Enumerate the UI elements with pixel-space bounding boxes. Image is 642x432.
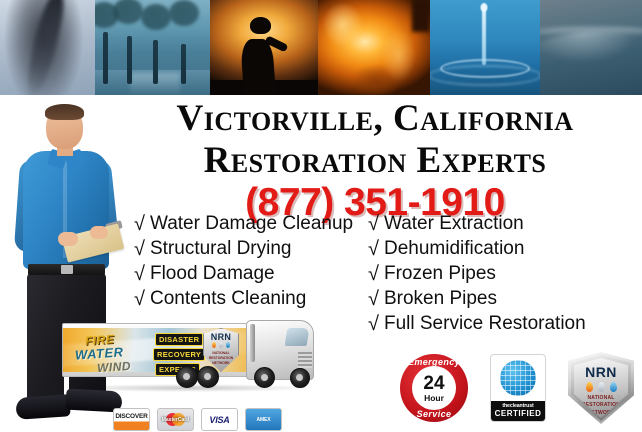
headline-location: Victorville, California bbox=[108, 100, 642, 137]
firefighter-silhouette bbox=[229, 17, 298, 95]
wind-drop-icon bbox=[598, 382, 605, 392]
water-droplet-photo bbox=[430, 0, 540, 95]
service-label: Structural Drying bbox=[150, 239, 292, 260]
trailer-shield-icons bbox=[204, 342, 238, 348]
service-label: Flood Damage bbox=[150, 264, 275, 285]
discover-card-icon: DISCOVER bbox=[113, 408, 150, 431]
rain-road-photo bbox=[95, 0, 210, 95]
firefighter-photo bbox=[210, 0, 318, 95]
ocean-wave-photo bbox=[540, 0, 642, 95]
wave-crest bbox=[540, 27, 642, 37]
wind-drop-icon bbox=[219, 342, 223, 348]
smoke-patch bbox=[412, 0, 430, 32]
trailer-wheel bbox=[197, 366, 219, 388]
fire-drop-icon bbox=[212, 342, 216, 348]
check-icon: √ bbox=[368, 239, 379, 259]
headline-tagline: Restoration Experts bbox=[108, 142, 642, 179]
check-icon: √ bbox=[134, 214, 145, 234]
photo-banner-strip bbox=[0, 0, 642, 95]
service-label: Full Service Restoration bbox=[384, 314, 586, 335]
trailer-badge-recovery: RECOVERY bbox=[153, 348, 205, 361]
tree-trunk bbox=[103, 32, 108, 83]
wheel-hub bbox=[261, 374, 268, 381]
check-icon: √ bbox=[134, 239, 145, 259]
service-item: √ Broken Pipes bbox=[368, 289, 630, 310]
service-item: √ Water Extraction bbox=[368, 214, 630, 235]
headline-block: Victorville, California Restoration Expe… bbox=[108, 100, 642, 222]
amex-label: AMEX bbox=[256, 417, 270, 423]
emergency-hours-unit: Hour bbox=[424, 394, 444, 403]
tree-canopy bbox=[141, 4, 171, 30]
mastercard-label: MasterCard bbox=[162, 417, 190, 423]
water-bead bbox=[480, 3, 487, 12]
service-label: Frozen Pipes bbox=[384, 264, 496, 285]
amex-card-icon: AMEX bbox=[245, 408, 282, 431]
check-icon: √ bbox=[368, 289, 379, 309]
hair bbox=[45, 104, 84, 120]
fire-drop-icon bbox=[586, 382, 593, 392]
belt-buckle bbox=[61, 265, 73, 274]
tree-canopy bbox=[169, 0, 199, 26]
service-label: Broken Pipes bbox=[384, 289, 497, 310]
trailer-wheel bbox=[176, 366, 198, 388]
check-icon: √ bbox=[134, 264, 145, 284]
nrn-sub-national: NATIONAL bbox=[582, 395, 620, 402]
payment-methods: DISCOVER MasterCard VISA AMEX bbox=[113, 408, 282, 431]
service-item: √ Structural Drying bbox=[134, 239, 356, 260]
services-lists: √ Water Damage Cleanup √ Structural Dryi… bbox=[134, 214, 634, 334]
trailer-badge-disaster: DISASTER bbox=[155, 333, 203, 346]
nrn-acronym: NRN bbox=[585, 364, 617, 380]
check-icon: √ bbox=[368, 314, 379, 334]
services-column-right: √ Water Extraction √ Dehumidification √ … bbox=[368, 214, 630, 334]
service-item: √ Dehumidification bbox=[368, 239, 630, 260]
wheel-hub bbox=[183, 373, 190, 380]
tree-trunk bbox=[181, 44, 186, 84]
wheel-hub bbox=[204, 373, 211, 380]
service-item: √ Full Service Restoration bbox=[368, 314, 630, 335]
tree-trunk bbox=[153, 40, 158, 84]
cab-wheel bbox=[254, 367, 275, 388]
left-hand bbox=[58, 232, 78, 246]
visa-card-icon: VISA bbox=[201, 408, 238, 431]
cleantrust-certified-label: CERTIFIED bbox=[491, 409, 545, 418]
cleantrust-text-strip: thecleantrust CERTIFIED bbox=[491, 401, 545, 421]
check-icon: √ bbox=[134, 289, 145, 309]
nrn-subtitle: NATIONAL RESTORATION NETWORK bbox=[582, 395, 620, 417]
silhouette-head bbox=[250, 17, 271, 34]
restoration-ad-banner: Victorville, California Restoration Expe… bbox=[0, 0, 642, 432]
right-hand bbox=[90, 226, 108, 239]
water-drop-icon bbox=[226, 342, 230, 348]
windshield bbox=[285, 328, 310, 346]
tree-canopy bbox=[113, 0, 143, 24]
service-item: √ Frozen Pipes bbox=[368, 264, 630, 285]
service-item: √ Flood Damage bbox=[134, 264, 356, 285]
service-label: Dehumidification bbox=[384, 239, 524, 260]
globe-icon bbox=[491, 355, 545, 401]
water-column bbox=[482, 6, 486, 65]
trailer-nrn-acronym: NRN bbox=[211, 332, 231, 342]
emergency-top-text: Emergency bbox=[400, 357, 468, 367]
check-icon: √ bbox=[368, 264, 379, 284]
truck-trailer: FIRE WATER WIND DISASTER RECOVERY EXPERT… bbox=[62, 323, 250, 377]
tree-trunk bbox=[127, 36, 132, 84]
water-drop-icon bbox=[610, 382, 617, 392]
cleantrust-certified-badge: thecleantrust CERTIFIED bbox=[490, 354, 546, 422]
wheel-hub bbox=[296, 374, 303, 381]
service-label: Water Extraction bbox=[384, 214, 524, 235]
trust-badges: Emergency 24 Hour Service thecleantrust … bbox=[400, 350, 638, 426]
emergency-24hour-badge: Emergency 24 Hour Service bbox=[400, 354, 468, 422]
check-icon: √ bbox=[368, 214, 379, 234]
exhaust-stack bbox=[250, 324, 255, 362]
emergency-bottom-text: Service bbox=[400, 409, 468, 419]
restoration-truck: FIRE WATER WIND DISASTER RECOVERY EXPERT… bbox=[58, 318, 330, 402]
trailer-word-wind: WIND bbox=[97, 359, 132, 375]
silhouette-body bbox=[240, 39, 276, 95]
mastercard-card-icon: MasterCard bbox=[157, 408, 194, 431]
cab-wheel bbox=[290, 368, 310, 388]
service-item: √ Water Damage Cleanup bbox=[134, 214, 356, 235]
emergency-hours-number: 24 bbox=[423, 374, 444, 393]
nrn-element-icons bbox=[586, 382, 617, 392]
service-label: Water Damage Cleanup bbox=[150, 214, 353, 235]
truck-grille bbox=[298, 350, 312, 368]
shield-face: NRN NATIONAL RESTORATION NETWORK bbox=[574, 358, 628, 418]
emergency-badge-center: 24 Hour bbox=[412, 366, 456, 410]
service-item: √ Contents Cleaning bbox=[134, 289, 356, 310]
nrn-sub-network: NETWORK bbox=[582, 410, 620, 417]
flames-photo bbox=[318, 0, 430, 95]
globe-sphere bbox=[500, 360, 536, 396]
discover-label: DISCOVER bbox=[115, 413, 147, 420]
tornado-photo bbox=[0, 0, 95, 95]
services-column-left: √ Water Damage Cleanup √ Structural Dryi… bbox=[134, 214, 356, 334]
nrn-network-badge: NRN NATIONAL RESTORATION NETWORK bbox=[568, 352, 634, 424]
visa-label: VISA bbox=[209, 415, 229, 425]
service-label: Contents Cleaning bbox=[150, 289, 306, 310]
